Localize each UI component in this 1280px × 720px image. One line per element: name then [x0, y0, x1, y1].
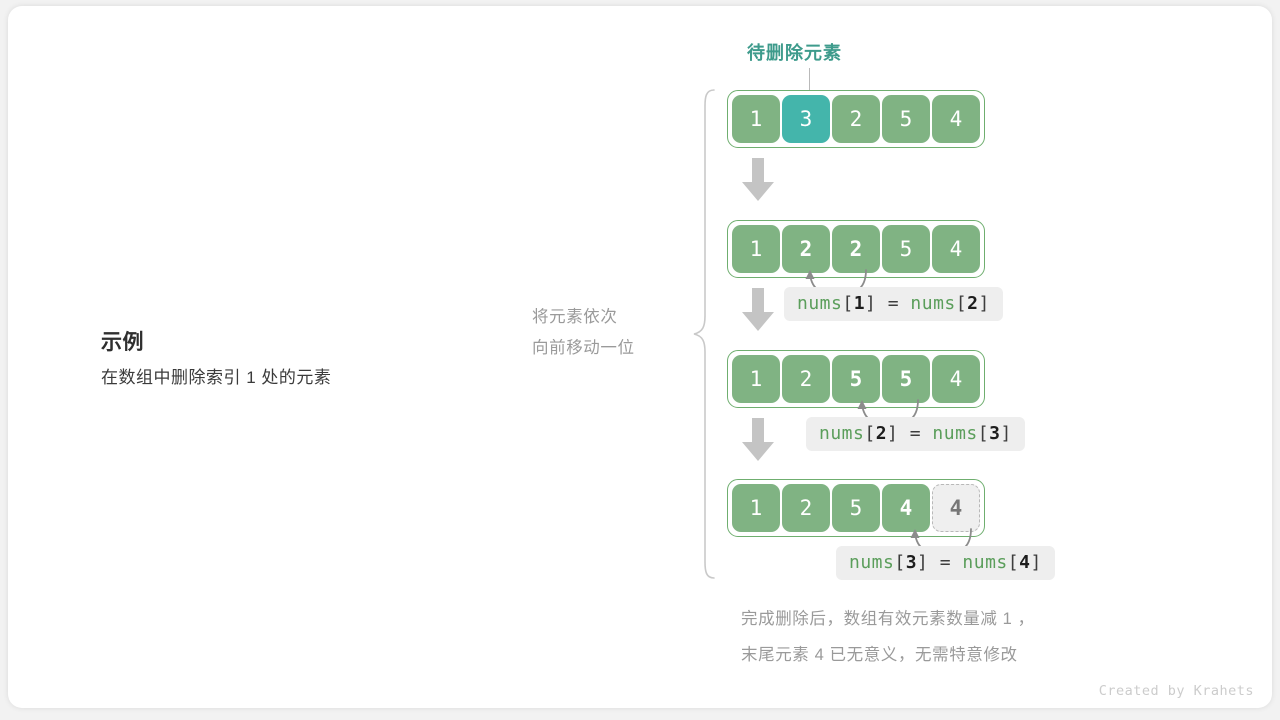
code-rhs-index: 2 [967, 293, 978, 314]
code-rhs-index: 3 [989, 423, 1000, 444]
brace-annotation-line1: 将元素依次 [532, 302, 682, 333]
array-cell-obsolete[interactable]: 4 [932, 484, 980, 532]
array-cell-source[interactable]: 5 [882, 355, 930, 403]
code-label-1: nums[1] = nums[2] [784, 287, 1003, 321]
array-cell-modified[interactable]: 4 [882, 484, 930, 532]
code-rhs-index: 4 [1019, 552, 1030, 573]
array-cell[interactable]: 5 [882, 225, 930, 273]
array-cell[interactable]: 5 [882, 95, 930, 143]
code-lhs-index: 1 [854, 293, 865, 314]
array-cell[interactable]: 1 [732, 484, 780, 532]
code-lhs-name: nums [849, 552, 894, 573]
diagram-canvas: 待删除元素 示例 在数组中删除索引 1 处的元素 将元素依次 向前移动一位 1 … [8, 6, 1272, 708]
code-rhs-name: nums [962, 552, 1007, 573]
description-block: 示例 在数组中删除索引 1 处的元素 [101, 328, 481, 393]
footer-caption-line2: 末尾元素 4 已无意义，无需特意修改 [741, 637, 1035, 673]
array-cell-highlighted[interactable]: 3 [782, 95, 830, 143]
array-cell[interactable]: 2 [832, 95, 880, 143]
code-label-2: nums[2] = nums[3] [806, 417, 1025, 451]
array-cell-source[interactable]: 2 [832, 225, 880, 273]
code-operator: = [888, 293, 899, 314]
code-lhs-name: nums [797, 293, 842, 314]
brace-annotation: 将元素依次 向前移动一位 [532, 302, 682, 364]
code-operator: = [910, 423, 921, 444]
code-label-3: nums[3] = nums[4] [836, 546, 1055, 580]
array-cell[interactable]: 4 [932, 95, 980, 143]
down-arrow-icon [741, 288, 775, 332]
array-cell[interactable]: 1 [732, 355, 780, 403]
down-arrow-icon [741, 158, 775, 202]
footer-caption: 完成删除后，数组有效元素数量减 1 ， 末尾元素 4 已无意义，无需特意修改 [741, 601, 1035, 673]
code-rhs-name: nums [910, 293, 955, 314]
array-cell[interactable]: 2 [782, 355, 830, 403]
array-cell[interactable]: 1 [732, 225, 780, 273]
array-cell[interactable]: 5 [832, 484, 880, 532]
footer-caption-line1: 完成删除后，数组有效元素数量减 1 ， [741, 601, 1035, 637]
example-title: 示例 [101, 328, 481, 358]
code-operator: = [940, 552, 951, 573]
brace-annotation-line2: 向前移动一位 [532, 333, 682, 364]
array-cell[interactable]: 1 [732, 95, 780, 143]
page-title: 待删除元素 [747, 39, 842, 65]
code-lhs-index: 2 [876, 423, 887, 444]
curly-brace-icon [692, 88, 716, 580]
down-arrow-icon [741, 418, 775, 462]
code-lhs-index: 3 [906, 552, 917, 573]
array-cell[interactable]: 4 [932, 355, 980, 403]
credit-text: Created by Krahets [1099, 683, 1254, 699]
array-cell-modified[interactable]: 5 [832, 355, 880, 403]
array-cell[interactable]: 2 [782, 484, 830, 532]
array-cell[interactable]: 4 [932, 225, 980, 273]
code-lhs-name: nums [819, 423, 864, 444]
array-row-1: 1 3 2 5 4 [727, 90, 985, 148]
code-rhs-name: nums [932, 423, 977, 444]
array-cell-modified[interactable]: 2 [782, 225, 830, 273]
example-subtitle: 在数组中删除索引 1 处的元素 [101, 363, 481, 393]
